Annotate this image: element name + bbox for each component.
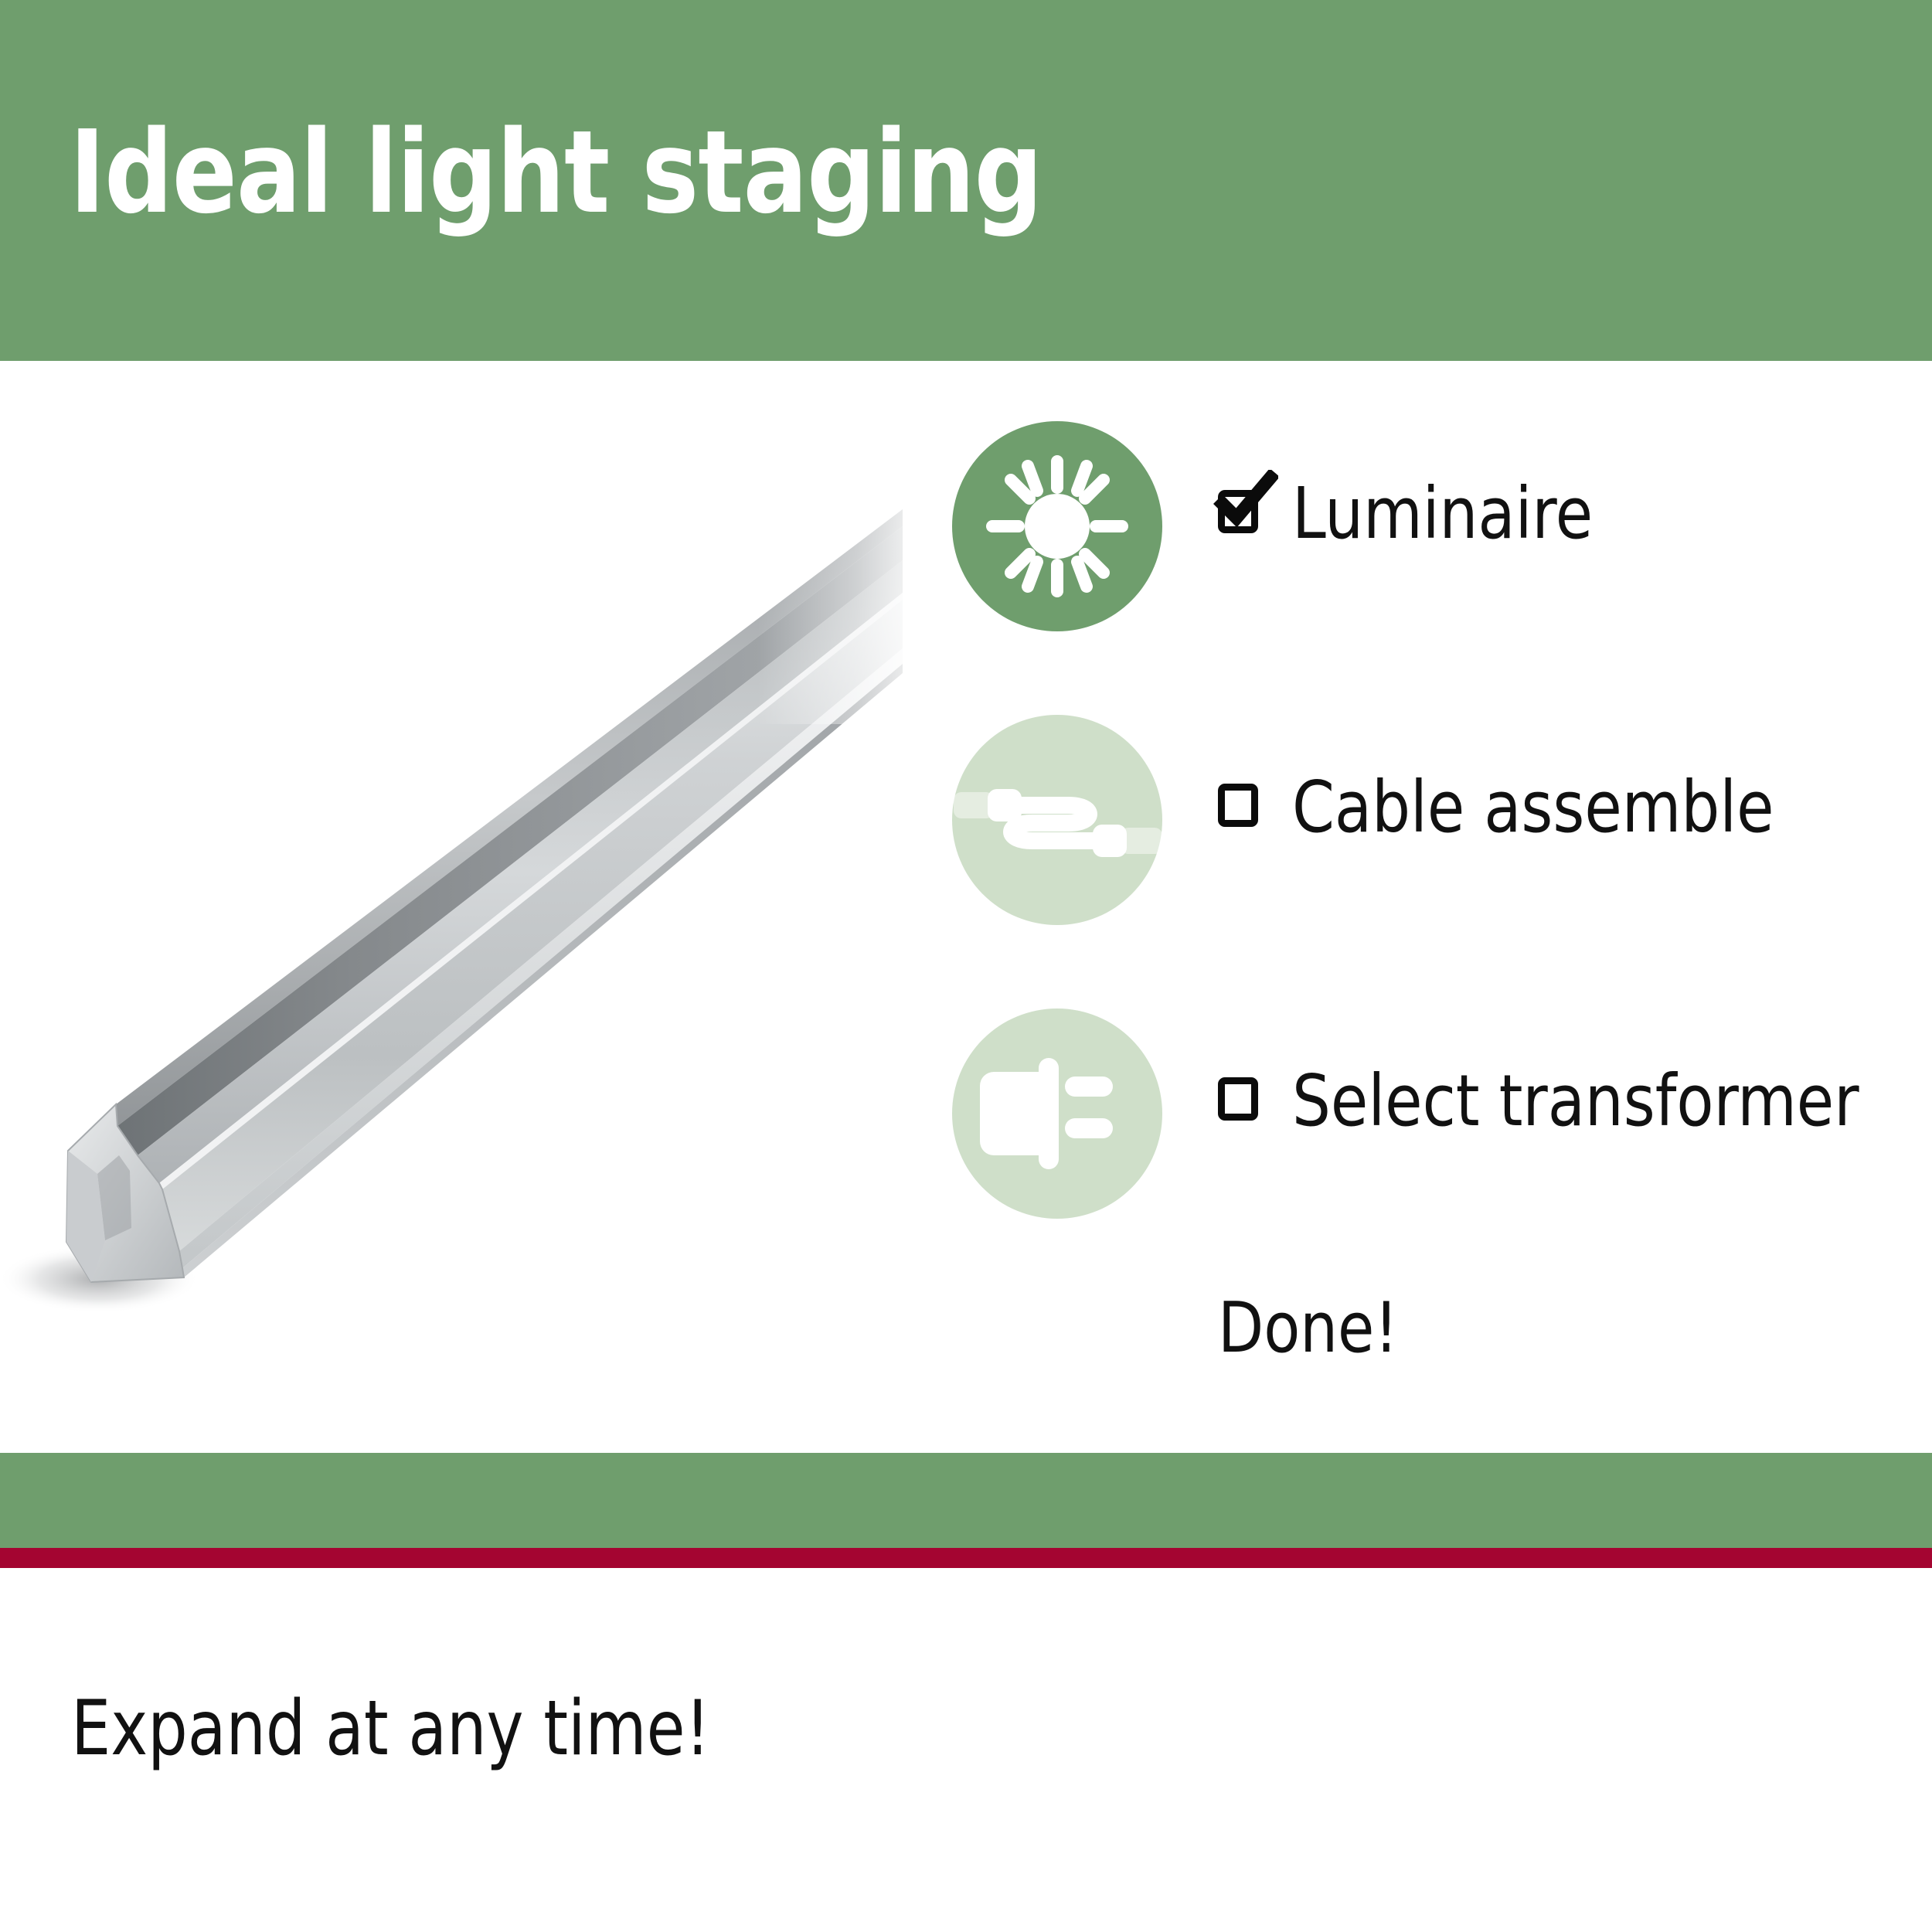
checklist-row-cable-assemble[interactable]: Cable assemble <box>952 715 1932 1009</box>
power-plug-icon <box>952 1009 1162 1219</box>
header-band: Ideal light staging <box>0 0 1932 361</box>
checkmark-icon <box>1213 470 1278 535</box>
checkbox-select-transformer[interactable] <box>1218 1077 1266 1125</box>
checklist-label-group[interactable]: Select transformer <box>1218 1066 1889 1137</box>
checklist-row-luminaire[interactable]: Luminaire <box>952 421 1932 715</box>
sun-icon-badge <box>952 421 1162 631</box>
done-label: Done! <box>1218 1294 1398 1363</box>
checklist-item-label: Cable assemble <box>1292 772 1774 843</box>
checklist-item-label: Select transformer <box>1292 1066 1859 1137</box>
product-image <box>0 361 935 1453</box>
footer-red-accent-band <box>0 1548 1932 1568</box>
power-plug-icon-badge <box>952 1009 1162 1219</box>
checkbox-luminaire[interactable] <box>1218 490 1266 538</box>
checklist-label-group[interactable]: Luminaire <box>1218 478 1609 549</box>
poster-root: Ideal light staging <box>0 0 1932 1932</box>
checklist-label-group[interactable]: Cable assemble <box>1218 772 1799 843</box>
cable-icon-badge <box>952 715 1162 925</box>
checkbox-box <box>1218 784 1258 827</box>
checklist: Luminaire Cab <box>952 421 1932 1302</box>
page-title: Ideal light staging <box>70 114 1042 230</box>
checkbox-cable-assemble[interactable] <box>1218 784 1266 832</box>
footer-caption: Expand at any time! <box>71 1689 710 1768</box>
checkbox-box <box>1218 1077 1258 1121</box>
sun-icon <box>952 421 1162 631</box>
checklist-row-select-transformer[interactable]: Select transformer <box>952 1009 1932 1302</box>
footer-green-band <box>0 1453 1932 1548</box>
aluminium-u-profile-illustration <box>0 361 935 1453</box>
cable-icon <box>952 715 1162 925</box>
checklist-item-label: Luminaire <box>1292 478 1593 549</box>
